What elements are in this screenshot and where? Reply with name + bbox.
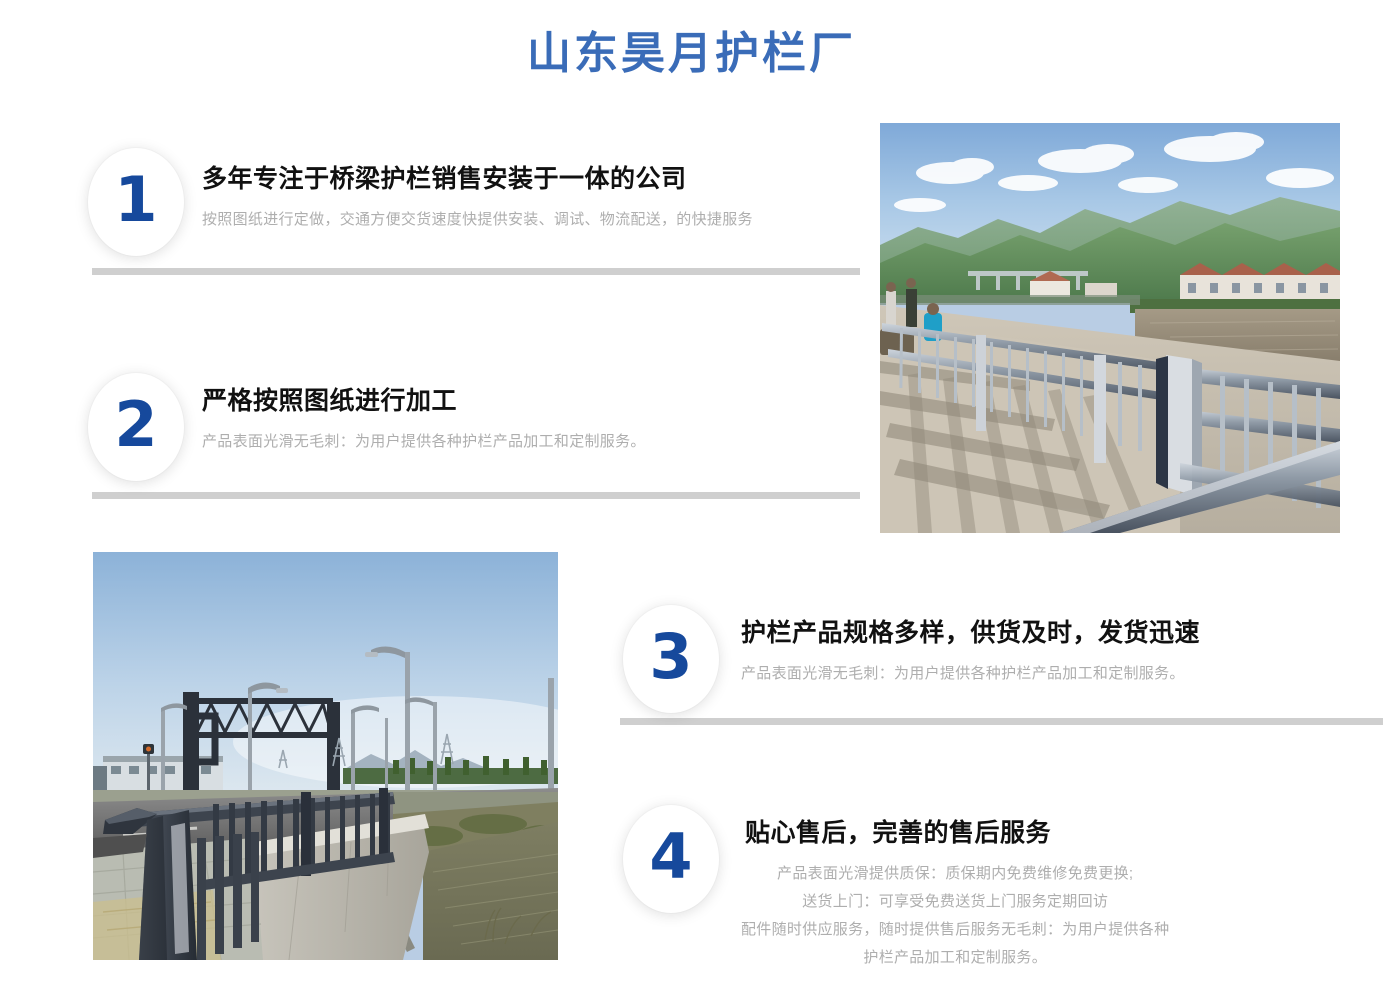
feature-number-badge-2: 2 bbox=[88, 373, 184, 481]
feature-text-3: 护栏产品规格多样，供货及时，发货迅速 产品表面光滑无毛刺：为用户提供各种护栏产品… bbox=[741, 605, 1200, 688]
feature-subtitle-4-line-2: 送货上门：可享受免费送货上门服务定期回访 bbox=[741, 888, 1169, 916]
feature-heading-1: 多年专注于桥梁护栏销售安装于一体的公司 bbox=[202, 164, 753, 195]
feature-subtitle-4-line-1: 产品表面光滑提供质保：质保期内免费维修免费更换; bbox=[741, 860, 1169, 888]
feature-number-1: 1 bbox=[114, 169, 157, 231]
feature-text-2: 严格按照图纸进行加工 产品表面光滑无毛刺：为用户提供各种护栏产品加工和定制服务。 bbox=[202, 373, 646, 456]
feature-number-badge-1: 1 bbox=[88, 148, 184, 256]
feature-block-1: 1 多年专注于桥梁护栏销售安装于一体的公司 按照图纸进行定做，交通方便交货速度快… bbox=[88, 148, 753, 256]
feature-subtitle-3: 产品表面光滑无毛刺：为用户提供各种护栏产品加工和定制服务。 bbox=[741, 660, 1200, 688]
feature-block-2: 2 严格按照图纸进行加工 产品表面光滑无毛刺：为用户提供各种护栏产品加工和定制服… bbox=[88, 373, 646, 481]
section-divider bbox=[620, 718, 1383, 725]
feature-heading-4: 贴心售后，完善的售后服务 bbox=[741, 818, 1169, 849]
feature-subtitle-4-line-3: 配件随时供应服务，随时提供售后服务无毛刺：为用户提供各种 bbox=[741, 916, 1169, 944]
feature-number-4: 4 bbox=[649, 826, 692, 888]
stainless-steel-bridge-railing-photo bbox=[880, 123, 1340, 533]
feature-number-2: 2 bbox=[114, 394, 157, 456]
feature-number-3: 3 bbox=[649, 626, 692, 688]
feature-subtitle-4-line-4: 护栏产品加工和定制服务。 bbox=[741, 944, 1169, 972]
railing-photo-1-graphic bbox=[880, 123, 1340, 533]
section-divider bbox=[92, 268, 860, 275]
feature-text-1: 多年专注于桥梁护栏销售安装于一体的公司 按照图纸进行定做，交通方便交货速度快提供… bbox=[202, 148, 753, 234]
railing-photo-2-graphic bbox=[93, 552, 558, 960]
page-title: 山东昊月护栏厂 bbox=[0, 28, 1383, 81]
feature-heading-3: 护栏产品规格多样，供货及时，发货迅速 bbox=[741, 618, 1200, 649]
feature-number-badge-3: 3 bbox=[623, 605, 719, 713]
feature-heading-2: 严格按照图纸进行加工 bbox=[202, 386, 646, 417]
dark-steel-bridge-railing-photo bbox=[93, 552, 558, 960]
feature-block-4: 4 贴心售后，完善的售后服务 产品表面光滑提供质保：质保期内免费维修免费更换; … bbox=[623, 805, 1169, 971]
feature-subtitle-4: 产品表面光滑提供质保：质保期内免费维修免费更换; 送货上门：可享受免费送货上门服… bbox=[741, 860, 1169, 971]
feature-text-4: 贴心售后，完善的售后服务 产品表面光滑提供质保：质保期内免费维修免费更换; 送货… bbox=[741, 805, 1169, 971]
feature-block-3: 3 护栏产品规格多样，供货及时，发货迅速 产品表面光滑无毛刺：为用户提供各种护栏… bbox=[623, 605, 1200, 713]
feature-subtitle-1: 按照图纸进行定做，交通方便交货速度快提供安装、调试、物流配送，的快捷服务 bbox=[202, 206, 753, 234]
section-divider bbox=[92, 492, 860, 499]
feature-number-badge-4: 4 bbox=[623, 805, 719, 913]
feature-subtitle-2: 产品表面光滑无毛刺：为用户提供各种护栏产品加工和定制服务。 bbox=[202, 428, 646, 456]
promo-page: 山东昊月护栏厂 bbox=[0, 0, 1383, 1000]
